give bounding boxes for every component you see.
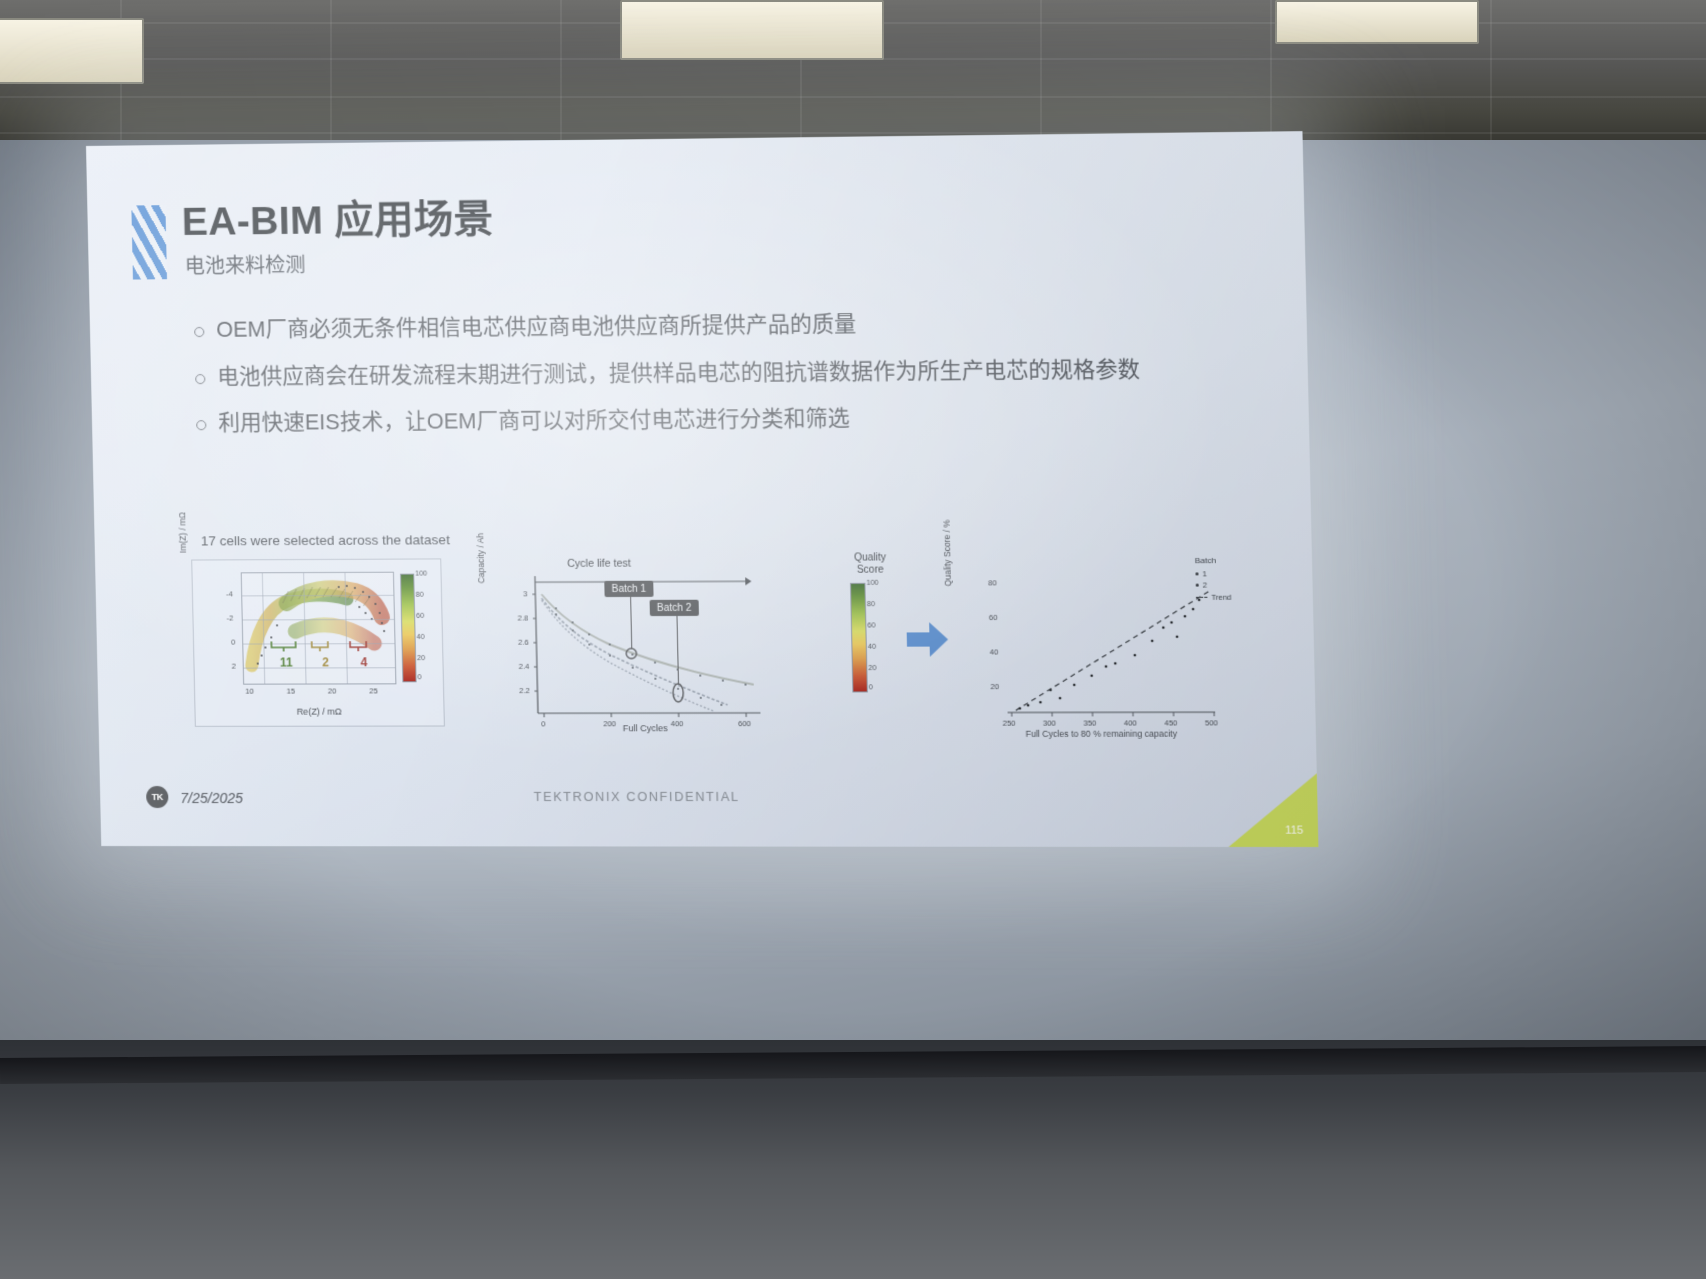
legend-item: Trend — [1195, 591, 1231, 603]
page-number: 115 — [1285, 825, 1304, 837]
chart-nyquist-brackets — [242, 573, 396, 684]
list-item: OEM厂商必须无条件相信电芯供应商电池供应商所提供产品的质量 — [194, 305, 1249, 345]
chart-cycle-life-ytick: 2.4 — [519, 662, 530, 671]
chart-nyquist-xtick: 20 — [328, 686, 337, 695]
chart-nyquist-ytick: -4 — [226, 589, 233, 598]
room-photo-background: EA-BIM 应用场景 电池来料检测 OEM厂商必须无条件相信电芯供应商电池供应… — [0, 0, 1706, 1279]
ceiling-light-panel — [1275, 0, 1479, 44]
chart-quality-score-xtick: 450 — [1164, 718, 1177, 727]
legend-title: Batch — [1195, 555, 1231, 567]
chart-nyquist-ytick: -2 — [227, 613, 234, 622]
chart-quality-score-ylabel: Quality Score / % — [941, 509, 953, 596]
slide-title-block: EA-BIM 应用场景 电池来料检测 — [131, 199, 494, 279]
quality-score-colorbar-block: QualityScore 100 80 60 40 20 0 — [841, 552, 899, 576]
chart-nyquist-xtick: 10 — [245, 687, 254, 696]
chart-nyquist-xlabel: Re(Z) / mΩ — [244, 706, 395, 716]
chart-cycle-life-ytick: 2.8 — [517, 613, 528, 622]
bullet-list: OEM厂商必须无条件相信电芯供应商电池供应商所提供产品的质量 电池供应商会在研发… — [194, 305, 1251, 454]
bullet-text: OEM厂商必须无条件相信电芯供应商电池供应商所提供产品的质量 — [216, 309, 856, 345]
confidential-notice: TEKTRONIX CONFIDENTIAL — [534, 790, 740, 804]
chart-quality-score-ytick: 80 — [988, 578, 997, 587]
bullet-dot-icon — [194, 327, 204, 337]
chart-cycle-life: Cycle life test — [494, 551, 794, 749]
legend-label: 1 — [1202, 568, 1207, 580]
chart-nyquist: Im(Z) / mΩ — [191, 558, 445, 726]
chart-quality-score-xtick: 400 — [1124, 718, 1137, 727]
chart-cycle-life-xlabel: Full Cycles — [538, 723, 753, 733]
bullet-dot-icon — [195, 374, 205, 384]
chart-quality-score-xtick: 300 — [1043, 719, 1056, 728]
bullet-dot-icon — [196, 420, 206, 430]
chart-cycle-life-ylabel: Capacity / Ah — [475, 518, 487, 599]
right-arrow-icon — [904, 619, 950, 660]
chart-nyquist-colorbar — [400, 574, 417, 683]
colorbar-tick: 0 — [417, 674, 421, 681]
quality-score-colorbar-title: QualityScore — [841, 552, 899, 576]
chart-nyquist-xtick: 25 — [369, 686, 378, 695]
ceiling-light-panel — [0, 18, 144, 84]
tektronix-logo-icon: TK — [146, 786, 169, 808]
colorbar-tick: 100 — [415, 571, 427, 578]
colorbar-tick: 80 — [416, 592, 424, 599]
chart-quality-score: Quality Score / % 80 60 40 20 250 300 35… — [963, 549, 1229, 748]
colorbar-tick: 20 — [417, 655, 425, 662]
ceiling — [0, 0, 1706, 150]
colorbar-tick: 40 — [868, 644, 876, 651]
figure-caption: 17 cells were selected across the datase… — [201, 532, 450, 548]
figures-row: Im(Z) / mΩ — [191, 549, 1228, 749]
chart-cycle-life-ytick: 2.2 — [519, 686, 530, 695]
list-item: 电池供应商会在研发流程末期进行测试，提供样品电芯的阻抗谱数据作为所生产电芯的规格… — [195, 353, 1250, 392]
legend-dash-icon — [1196, 596, 1207, 597]
colorbar-tick: 60 — [416, 613, 424, 620]
chart-nyquist-ylabel: Im(Z) / mΩ — [177, 484, 189, 580]
chart-quality-score-legend: Batch 1 2 Trend — [1195, 555, 1232, 603]
colorbar-tick: 60 — [867, 622, 875, 629]
page-title: EA-BIM 应用场景 — [181, 199, 493, 242]
chart-nyquist-xtick: 15 — [286, 687, 295, 696]
hatch-bars-icon — [131, 205, 167, 279]
annotation-batch-2: Batch 2 — [650, 600, 699, 616]
projected-slide: EA-BIM 应用场景 电池来料检测 OEM厂商必须无条件相信电芯供应商电池供应… — [86, 131, 1318, 847]
bullet-text: 利用快速EIS技术，让OEM厂商可以对所交付电芯进行分类和筛选 — [218, 403, 850, 438]
colorbar-tick: 80 — [867, 601, 875, 608]
list-item: 利用快速EIS技术，让OEM厂商可以对所交付电芯进行分类和筛选 — [196, 401, 1251, 439]
bullet-text: 电池供应商会在研发流程末期进行测试，提供样品电芯的阻抗谱数据作为所生产电芯的规格… — [217, 354, 1140, 392]
chart-quality-score-xtick: 350 — [1083, 718, 1096, 727]
legend-item: 2 — [1195, 580, 1231, 592]
colorbar-tick: 40 — [417, 634, 425, 641]
legend-item: 1 — [1195, 568, 1231, 580]
chart-nyquist-plot-area: 11 2 4 — [241, 572, 397, 685]
chart-nyquist-ytick: 0 — [231, 638, 235, 647]
legend-label: Trend — [1211, 591, 1231, 603]
chart-quality-score-xtick: 500 — [1205, 718, 1218, 727]
annotation-batch-1: Batch 1 — [604, 581, 653, 597]
colorbar-tick: 100 — [866, 580, 878, 587]
quality-score-colorbar — [850, 583, 868, 693]
slide-date: 7/25/2025 — [180, 790, 243, 806]
page-subtitle: 电池来料检测 — [184, 247, 494, 279]
legend-label: 2 — [1203, 580, 1208, 592]
legend-dot-icon — [1195, 584, 1198, 587]
corner-accent-shape — [1227, 773, 1318, 847]
chart-quality-score-ytick: 20 — [990, 682, 999, 691]
chart-quality-score-xtick: 250 — [1003, 719, 1016, 728]
chart-nyquist-ytick: 2 — [232, 662, 236, 671]
chart-cycle-life-ytick: 3 — [523, 589, 527, 598]
chart-quality-score-ytick: 40 — [990, 647, 999, 656]
colorbar-tick: 0 — [869, 684, 873, 691]
colorbar-tick: 20 — [868, 665, 876, 672]
legend-dot-icon — [1195, 572, 1198, 575]
chart-cycle-life-ytick: 2.6 — [518, 638, 529, 647]
chart-quality-score-xlabel: Full Cycles to 80 % remaining capacity — [977, 728, 1226, 739]
chart-quality-score-ytick: 60 — [989, 613, 998, 622]
ceiling-light-panel — [620, 0, 884, 60]
